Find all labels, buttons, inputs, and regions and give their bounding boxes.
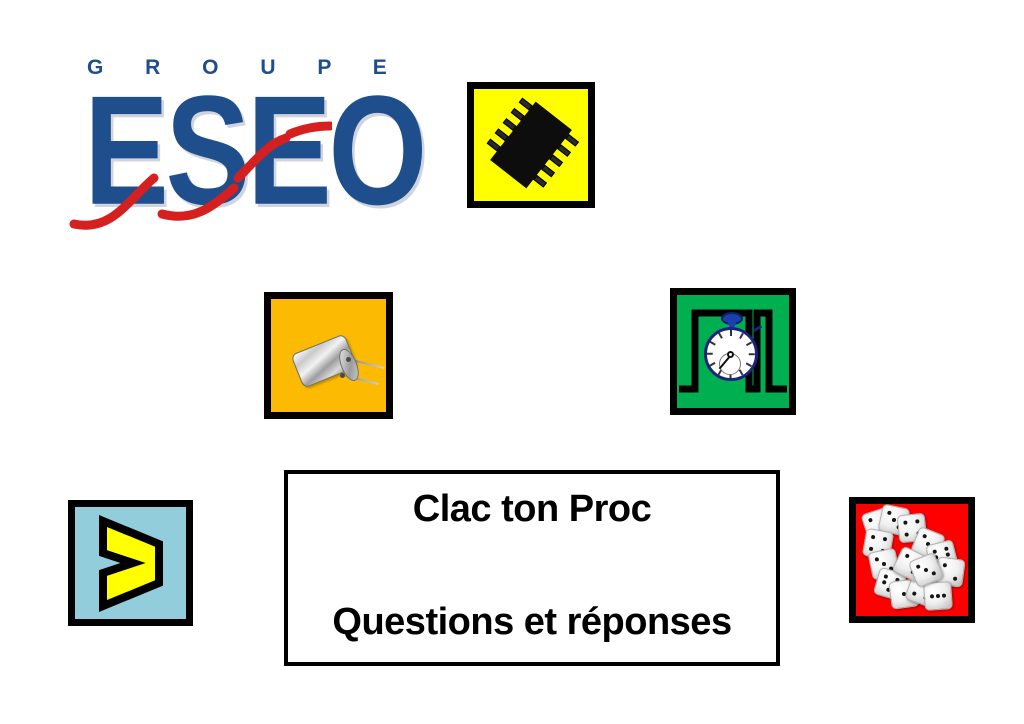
ic-pin — [565, 134, 579, 147]
ic-pin — [549, 154, 563, 167]
stopwatch-timing-tile[interactable] — [670, 288, 796, 415]
title-line-secondary: Questions et réponses — [288, 601, 776, 644]
ic-pin — [503, 118, 517, 131]
dice-tile[interactable] — [849, 497, 975, 623]
slide-canvas: G R O U P E ESEO — [0, 0, 1024, 724]
logic-buffer-tile[interactable] — [68, 500, 193, 626]
logic-buffer-image — [75, 507, 186, 619]
integrated-circuit-tile[interactable] — [467, 82, 595, 208]
logo-wordmark-group: ESEO — [72, 82, 312, 232]
ic-pin — [533, 175, 547, 188]
ic-pin — [495, 128, 509, 141]
ic-pin — [541, 165, 555, 178]
dice-image — [856, 504, 968, 616]
title-line-primary: Clac ton Proc — [288, 488, 776, 531]
quartz-crystal-tile[interactable] — [264, 292, 393, 419]
crystal-lead-hole — [346, 357, 351, 362]
dial-tick — [730, 330, 732, 336]
ic-pin — [487, 139, 501, 152]
crystal-lead-hole — [340, 373, 345, 378]
logo-eseo-wordmark: ESEO — [84, 82, 424, 221]
ic-pin — [557, 144, 571, 157]
dial-tick — [707, 353, 713, 355]
title-panel: Clac ton Proc Questions et réponses — [284, 470, 780, 666]
ic-chip-icon — [490, 102, 572, 189]
ic-pin — [511, 108, 525, 121]
groupe-eseo-logo: G R O U P E ESEO — [72, 56, 322, 241]
die — [923, 581, 953, 611]
quartz-crystal-image — [271, 299, 386, 412]
dial-tick — [749, 353, 755, 355]
integrated-circuit-image — [474, 89, 588, 201]
ic-pin — [519, 98, 533, 111]
stopwatch-hub — [727, 351, 734, 358]
chevron-buffer-icon — [75, 507, 186, 619]
stopwatch-timing-image — [677, 295, 789, 408]
